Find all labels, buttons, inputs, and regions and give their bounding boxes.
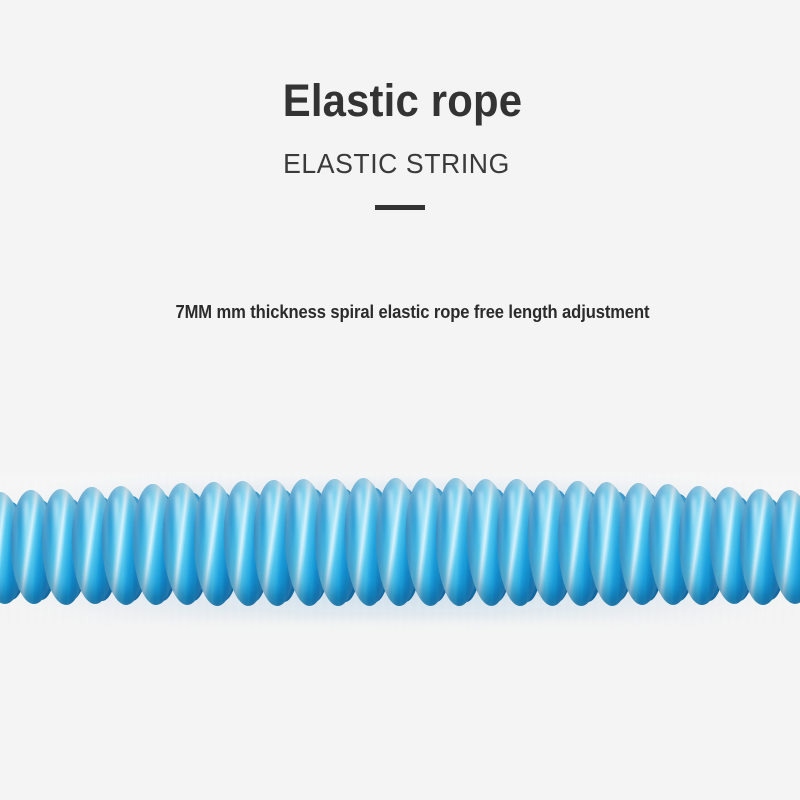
page-title: Elastic rope — [28, 74, 777, 128]
rope-fade-top — [0, 462, 800, 478]
product-banner: Elastic rope ELASTIC STRING 7MM mm thick… — [0, 0, 800, 800]
rope-fade-bottom — [0, 618, 800, 638]
spiral-rope-photo — [0, 462, 800, 638]
page-subtitle: ELASTIC STRING — [20, 147, 773, 181]
title-divider — [375, 205, 425, 210]
product-description: 7MM mm thickness spiral elastic rope fre… — [33, 300, 792, 324]
